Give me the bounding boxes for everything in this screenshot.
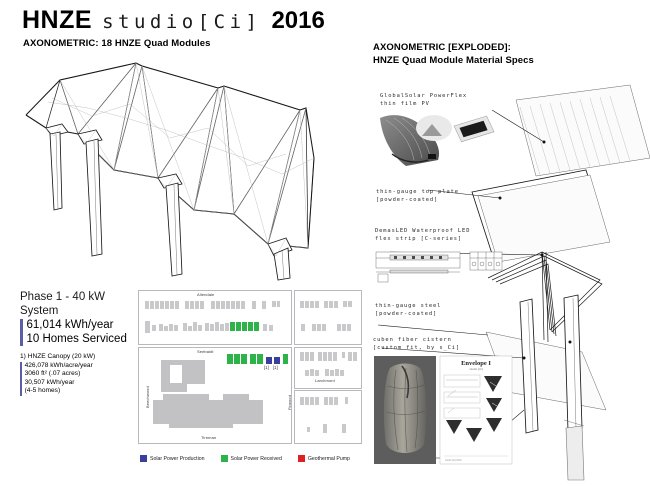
spec-cistern-line2: [custom fit, by s_Ci] [373, 344, 460, 352]
map-label-beechwood: Beechwood [145, 386, 150, 408]
map-panel-seebaldt[interactable]: Seebaldt Beechwood Firwood Tireman [1] [… [138, 347, 292, 444]
right-section-heading-line2: HNZE Quad Module Material Specs [373, 55, 534, 68]
map-label-seebaldt: Seebaldt [197, 349, 214, 354]
legend-item-0: Solar Power Production [140, 455, 205, 462]
legend-label-1: Solar Power Received [231, 456, 282, 462]
phase-title: Phase 1 - 40 kW System [20, 290, 138, 318]
legend-item-1: Solar Power Received [221, 455, 282, 462]
legend-swatch-0 [140, 455, 147, 462]
studio-title: studio[Ci] [102, 11, 261, 33]
spec-led-line1: DemasLED Waterproof LED [375, 227, 470, 235]
map-label-larchmont: Larchmont [315, 378, 335, 383]
legend-label-0: Solar Power Production [150, 456, 205, 462]
spec-topplate-line1: thin-gauge top plate [376, 188, 459, 196]
phase-note-line-1: 3060 ft² (.07 acres) [25, 370, 93, 379]
map-panel-larchmont[interactable]: Larchmont [294, 347, 362, 389]
phase-highlight-0: 61,014 kWh/year [27, 319, 127, 333]
legend-item-2: Geothermal Pump [298, 455, 350, 462]
map-panel-southeast[interactable] [294, 390, 362, 444]
spec-topplate-line2: [powder-coated] [376, 196, 438, 204]
phase-note-line-3: (4-5 homes) [25, 387, 93, 396]
spec-cistern-line1: cuben fiber cistern [373, 336, 452, 344]
svg-text:studio [Ci] 2016: studio [Ci] 2016 [445, 459, 462, 462]
map-panel-northeast[interactable] [294, 290, 362, 345]
phase-note-label: HNZE Canopy (20 kW) [28, 353, 95, 360]
pv-panel-illustration [376, 110, 496, 170]
map-label-tireman: Tireman [201, 435, 216, 440]
legend-swatch-1 [221, 455, 228, 462]
led-strip-detail [374, 250, 504, 284]
map-panel-allendale[interactable]: Allendale [138, 290, 292, 345]
map-annotation-1: [1] [273, 365, 278, 370]
legend-label-2: Geothermal Pump [308, 456, 350, 462]
brand-title: HNZE [22, 6, 92, 35]
svg-text:Envelope I: Envelope I [461, 360, 491, 367]
spec-pv-line1: GlobalSolar PowerFlex [380, 92, 467, 100]
svg-text:studio [Ci]: studio [Ci] [469, 367, 483, 371]
year-title: 2016 [271, 7, 324, 35]
spec-steel-line1: thin-gauge steel [375, 302, 441, 310]
phase-highlights: 61,014 kWh/year 10 Homes Serviced [20, 319, 138, 346]
accent-bar-small [20, 362, 22, 396]
map-legend: Solar Power Production Solar Power Recei… [140, 455, 350, 462]
cistern-photo [374, 356, 436, 464]
spec-steel-line2: [powder-coated] [375, 310, 437, 318]
map-label-firwood: Firwood [287, 395, 292, 410]
spec-led-line2: flex strip [C-series] [375, 235, 462, 243]
phase-note-line-0: 426,078 kWh/acre/year [25, 362, 93, 371]
neighborhood-map: Allendale [138, 290, 360, 442]
canopy-axonometric [18, 58, 358, 283]
envelope-sheet: Envelope I studio [Ci] studio [Ci] 2016 [440, 356, 512, 464]
spec-pv-line2: thin film PV [380, 100, 430, 108]
map-annotation-0: [1] [264, 365, 269, 370]
phase-highlight-1: 10 Homes Serviced [27, 333, 127, 347]
title-bar: HNZE studio[Ci] 2016 [22, 6, 325, 35]
accent-bar [20, 319, 23, 346]
phase-note: 1) HNZE Canopy (20 kW) 426,078 kWh/acre/… [20, 353, 138, 396]
right-section-heading-line1: AXONOMETRIC [EXPLODED]: [373, 42, 511, 55]
map-label-allendale: Allendale [197, 292, 214, 297]
left-section-heading: AXONOMETRIC: 18 HNZE Quad Modules [23, 38, 211, 51]
legend-swatch-2 [298, 455, 305, 462]
phase-note-line-2: 30,507 kWh/year [25, 379, 93, 388]
phase-note-title: 1) HNZE Canopy (20 kW) [20, 353, 138, 362]
phase-note-index: 1) [20, 353, 26, 360]
phase-data-block: Phase 1 - 40 kW System 61,014 kWh/year 1… [20, 290, 138, 396]
